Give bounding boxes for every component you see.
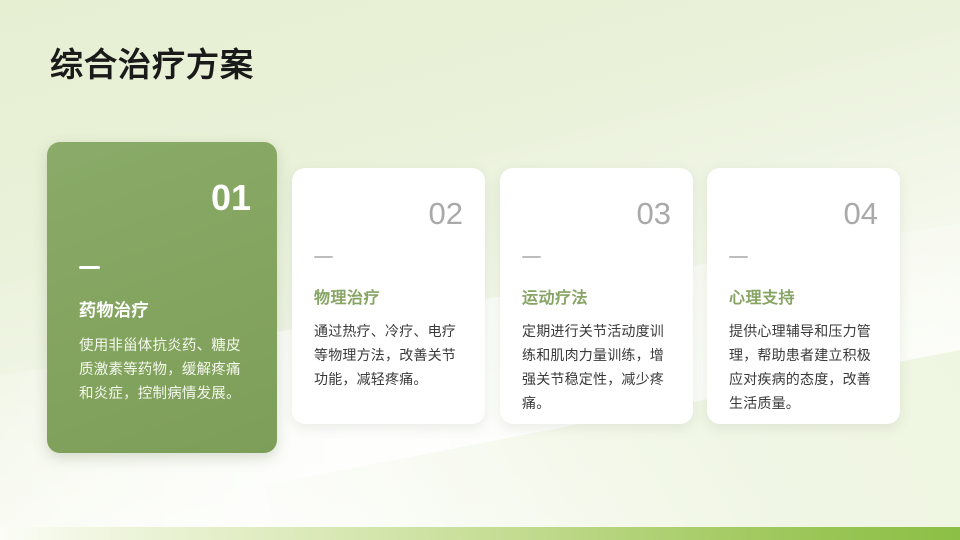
card-number-1: 01 — [79, 180, 251, 216]
card-divider-dash-2 — [314, 256, 333, 258]
card-divider-dash-4 — [729, 256, 748, 258]
card-heading-4: 心理支持 — [729, 289, 880, 308]
slide-canvas: 综合治疗方案 01 药物治疗 使用非甾体抗炎药、糖皮质激素等药物，缓解疼痛和炎症… — [0, 0, 960, 540]
card-heading-3: 运动疗法 — [522, 289, 673, 308]
card-divider-dash-3 — [522, 256, 541, 258]
card-heading-1: 药物治疗 — [79, 301, 253, 321]
card-body-3: 定期进行关节活动度训练和肌肉力量训练，增强关节稳定性，减少疼痛。 — [522, 319, 673, 415]
treatment-card-2[interactable]: 02 物理治疗 通过热疗、冷疗、电疗等物理方法，改善关节功能，减轻疼痛。 — [292, 168, 485, 424]
bottom-accent-bar — [0, 527, 960, 540]
card-divider-dash-1 — [79, 266, 100, 269]
card-number-3: 03 — [522, 198, 671, 229]
card-body-1: 使用非甾体抗炎药、糖皮质激素等药物，缓解疼痛和炎症，控制病情发展。 — [79, 334, 253, 406]
card-heading-2: 物理治疗 — [314, 289, 465, 308]
card-number-2: 02 — [314, 198, 463, 229]
card-number-4: 04 — [729, 198, 878, 229]
treatment-card-4[interactable]: 04 心理支持 提供心理辅导和压力管理，帮助患者建立积极应对疾病的态度，改善生活… — [707, 168, 900, 424]
card-body-4: 提供心理辅导和压力管理，帮助患者建立积极应对疾病的态度，改善生活质量。 — [729, 319, 880, 415]
treatment-card-1[interactable]: 01 药物治疗 使用非甾体抗炎药、糖皮质激素等药物，缓解疼痛和炎症，控制病情发展… — [47, 142, 277, 453]
card-body-2: 通过热疗、冷疗、电疗等物理方法，改善关节功能，减轻疼痛。 — [314, 319, 465, 391]
treatment-card-3[interactable]: 03 运动疗法 定期进行关节活动度训练和肌肉力量训练，增强关节稳定性，减少疼痛。 — [500, 168, 693, 424]
page-title: 综合治疗方案 — [50, 46, 254, 84]
